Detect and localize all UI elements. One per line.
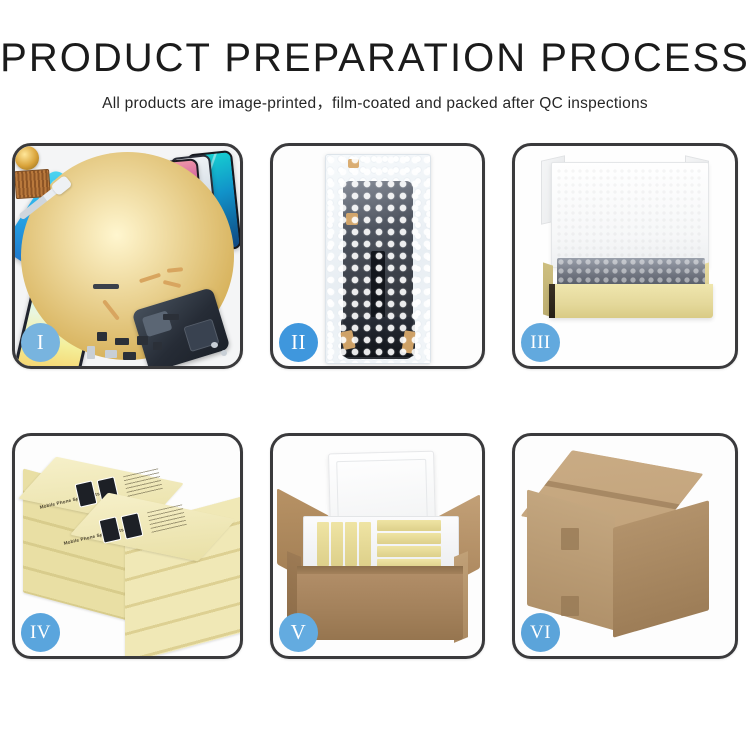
small-part: [163, 314, 179, 320]
page-subtitle: All products are image-printed，film-coat…: [0, 91, 750, 113]
small-part: [105, 350, 117, 358]
gold-coil-part: [15, 146, 39, 170]
yellow-box-front: [549, 284, 713, 318]
bubble-wrapped-contents: [557, 258, 705, 286]
yellow-box-in-carton: [359, 522, 371, 566]
step-badge-4: IV: [21, 613, 60, 652]
yellow-box-in-carton: [377, 533, 441, 544]
screw: [211, 342, 218, 348]
foam-lid: [551, 162, 709, 268]
header: PRODUCT PREPARATION PROCESS All products…: [0, 0, 750, 113]
yellow-box-in-carton: [377, 546, 441, 557]
step-panel-1: I: [12, 143, 243, 369]
step-panel-3: III: [512, 143, 738, 369]
small-part: [115, 338, 129, 345]
screw: [221, 350, 227, 356]
step-badge-1: I: [21, 323, 60, 362]
step-badge-5: V: [279, 613, 318, 652]
step-panel-6: VI: [512, 433, 738, 659]
carton-front-panel: [297, 566, 463, 640]
small-part: [93, 284, 119, 289]
product-preparation-infographic: PRODUCT PREPARATION PROCESS All products…: [0, 0, 750, 750]
small-part: [137, 336, 148, 345]
yellow-box-in-carton: [317, 522, 329, 566]
yellow-box-in-carton: [331, 522, 343, 566]
tape-piece: [346, 213, 358, 225]
step-badge-3: III: [521, 323, 560, 362]
small-part: [153, 342, 162, 350]
small-part: [123, 352, 136, 360]
process-step-grid: I II: [12, 143, 738, 659]
step-panel-4: Mobile Phone Spare Parts Mobile Phone Sp…: [12, 433, 243, 659]
small-part: [97, 332, 107, 341]
tape-patch: [561, 596, 579, 616]
tape-patch: [561, 528, 579, 550]
yellow-box-in-carton: [377, 520, 441, 531]
step-panel-5: V: [270, 433, 485, 659]
page-title: PRODUCT PREPARATION PROCESS: [0, 38, 750, 78]
step-badge-2: II: [279, 323, 318, 362]
bubble-wrap-bag: [325, 154, 431, 364]
tape-piece: [348, 159, 359, 168]
small-part: [87, 346, 95, 359]
step-badge-6: VI: [521, 613, 560, 652]
yellow-box-in-carton: [345, 522, 357, 566]
step-panel-2: II: [270, 143, 485, 369]
